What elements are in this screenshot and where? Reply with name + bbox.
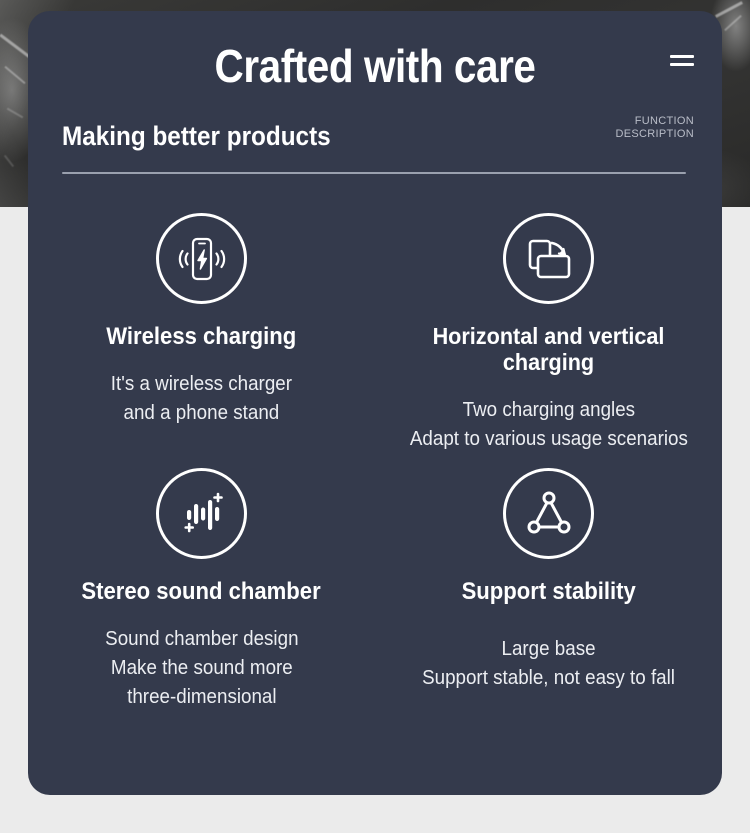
product-feature-page: Crafted with care FUNCTION DESCRIPTION M… <box>0 0 750 833</box>
feature-title: Stereo sound chamber <box>82 579 321 605</box>
function-description-line2: DESCRIPTION <box>616 128 694 141</box>
wireless-charging-phone-icon <box>156 213 247 304</box>
feature-item-support-stability: Support stability Large base Support sta… <box>375 462 722 717</box>
feature-description: Sound chamber design Make the sound more… <box>105 625 298 712</box>
feature-title: Wireless charging <box>106 324 296 350</box>
feature-title: Support stability <box>461 579 635 605</box>
sound-wave-icon <box>156 468 247 559</box>
header-divider <box>62 172 686 174</box>
feature-description: Two charging angles Adapt to various usa… <box>409 396 687 454</box>
feature-item-wireless-charging: Wireless charging It's a wireless charge… <box>28 207 375 462</box>
card-header: Crafted with care FUNCTION DESCRIPTION M… <box>28 11 722 189</box>
feature-item-rotation-charging: Horizontal and vertical charging Two cha… <box>375 207 722 462</box>
feature-description: Large base Support stable, not easy to f… <box>422 635 675 693</box>
page-subtitle: Making better products <box>62 123 331 150</box>
feature-title: Horizontal and vertical charging <box>389 324 708 376</box>
screen-rotation-icon <box>503 213 594 304</box>
triangle-nodes-stability-icon <box>503 468 594 559</box>
two-line-menu-icon[interactable] <box>670 55 694 71</box>
feature-card: Crafted with care FUNCTION DESCRIPTION M… <box>28 11 722 795</box>
feature-item-sound-chamber: Stereo sound chamber Sound chamber desig… <box>28 462 375 717</box>
feature-description: It's a wireless charger and a phone stan… <box>111 370 292 428</box>
function-description-label: FUNCTION DESCRIPTION <box>616 115 694 141</box>
page-title: Crafted with care <box>70 43 681 89</box>
function-description-line1: FUNCTION <box>616 115 694 128</box>
feature-grid: Wireless charging It's a wireless charge… <box>28 207 722 717</box>
